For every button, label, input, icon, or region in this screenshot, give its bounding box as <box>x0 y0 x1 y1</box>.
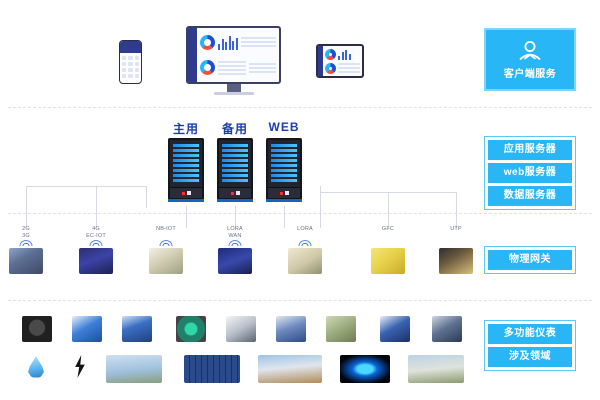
legend-client-label: 客户端服务 <box>504 65 557 80</box>
gateway-nb-iot[interactable]: NB-IOT <box>135 226 197 274</box>
domain-substation[interactable] <box>408 355 464 383</box>
legend-device-types[interactable]: 多功能仪表 涉及领域 <box>484 320 576 371</box>
gateway-4g-ec-iot[interactable]: 4G EC-IOT <box>65 226 127 274</box>
gas-flame-image <box>340 355 390 383</box>
domain-gas[interactable] <box>340 355 390 383</box>
server-rack-backup[interactable] <box>217 138 253 200</box>
domain-water[interactable] <box>28 356 44 378</box>
connector-left-branch-3 <box>146 186 147 208</box>
phone-status-bar <box>120 41 141 53</box>
gateway-lora-label: LORA <box>274 226 336 239</box>
dashboard-text-lines <box>241 37 277 47</box>
connector-rack-web-down <box>284 206 285 228</box>
meter-temperature-probe[interactable] <box>226 316 256 342</box>
gateway-4g-ec-iot-label: 4G EC-IOT <box>65 226 127 239</box>
gateway-nb-iot-label: NB-IOT <box>135 226 197 239</box>
tablet-content <box>323 46 362 76</box>
section-divider-client <box>8 107 592 108</box>
server-rack-primary[interactable] <box>168 138 204 200</box>
architecture-diagram: 客户端服务 主用 备用 WEB 应用服务器 web服务器 数据服务器 2G 3G <box>0 0 600 400</box>
gateway-utp[interactable]: UTP <box>425 226 487 274</box>
wifi-icon <box>160 240 173 247</box>
gateway-2g-3g-image <box>9 248 43 274</box>
monitor-screen <box>186 26 281 84</box>
tablet-donut-chart <box>325 49 336 60</box>
domain-oil-gas[interactable] <box>258 355 322 383</box>
gateway-lora-wan[interactable]: LORA WAN <box>204 226 266 274</box>
connector-right-branch-2 <box>388 192 389 228</box>
meter-gas-meter[interactable] <box>326 316 356 342</box>
gateway-lora-wan-label: LORA WAN <box>204 226 266 239</box>
solar-panel-image <box>184 355 240 383</box>
client-device-tablet[interactable] <box>316 44 364 78</box>
client-device-smartphone[interactable] <box>119 40 142 84</box>
gateway-lora[interactable]: LORA <box>274 226 336 274</box>
monitor-stand-base <box>214 92 254 95</box>
dashboard-content <box>197 28 279 82</box>
connector-left-branch-1 <box>26 186 27 228</box>
tablet-area-chart <box>338 49 351 60</box>
user-icon <box>517 40 543 62</box>
gateway-gfc[interactable]: GFC <box>357 226 419 274</box>
legend-server-types[interactable]: 应用服务器 web服务器 数据服务器 <box>484 136 576 210</box>
connector-bus-left <box>26 186 146 187</box>
oil-gas-tanks-image <box>258 355 322 383</box>
legend-client-service[interactable]: 客户端服务 <box>484 28 576 91</box>
gateway-gfc-label: GFC <box>357 226 419 239</box>
meter-smart-sensor-module[interactable] <box>176 316 206 342</box>
gateway-nb-iot-image <box>149 248 183 274</box>
client-device-desktop-monitor[interactable] <box>186 26 281 98</box>
substation-image <box>408 355 464 383</box>
connector-left-branch-2 <box>96 186 97 228</box>
domain-electricity[interactable] <box>72 355 88 378</box>
server-rack-web[interactable] <box>266 138 302 200</box>
gateway-utp-image <box>439 248 473 274</box>
dashboard-metrics <box>249 63 277 73</box>
rack-label-backup: 备用 <box>212 120 258 137</box>
wifi-icon <box>20 240 33 247</box>
meter-pressure-transmitter[interactable] <box>122 316 152 342</box>
domain-solar-power[interactable] <box>184 355 240 383</box>
gateway-utp-label: UTP <box>425 226 487 239</box>
rack-label-primary: 主用 <box>163 120 209 137</box>
gateway-4g-ec-iot-image <box>79 248 113 274</box>
legend-multifunction-meter: 多功能仪表 <box>488 324 572 344</box>
gateway-gfc-image <box>371 248 405 274</box>
connector-rack-backup-down <box>235 206 236 228</box>
legend-data-server: 数据服务器 <box>488 186 572 206</box>
dashboard-donut-chart-2 <box>200 60 215 75</box>
monitor-stand-neck <box>227 84 241 92</box>
gateway-2g-3g-label: 2G 3G <box>0 226 57 239</box>
gateway-lora-wan-image <box>218 248 252 274</box>
tablet-text-lines <box>338 63 360 73</box>
electricity-bolt-icon <box>72 355 88 378</box>
dashboard-bar-chart <box>218 35 238 50</box>
dashboard-donut-chart <box>200 35 215 50</box>
legend-application-domain: 涉及领域 <box>488 347 572 367</box>
wind-farm-image <box>106 355 162 383</box>
water-drop-icon <box>28 356 44 378</box>
domain-wind-power[interactable] <box>106 355 162 383</box>
legend-web-server: web服务器 <box>488 163 572 183</box>
connector-right-branch-1 <box>320 186 321 228</box>
meter-panel-meter[interactable] <box>432 316 462 342</box>
meter-lcd-meter[interactable] <box>22 316 52 342</box>
wifi-icon <box>90 240 103 247</box>
wifi-icon <box>229 240 242 247</box>
legend-gateway-label: 物理网关 <box>488 250 572 270</box>
rack-label-web: WEB <box>261 120 307 134</box>
phone-app-grid <box>120 53 141 81</box>
gateway-2g-3g[interactable]: 2G 3G <box>0 226 57 274</box>
wifi-icon <box>299 240 312 247</box>
tablet-donut-chart-2 <box>325 63 336 74</box>
meter-electromagnetic-flow-meter[interactable] <box>72 316 102 342</box>
gateway-lora-image <box>288 248 322 274</box>
legend-physical-gateway[interactable]: 物理网关 <box>484 246 576 274</box>
connector-right-branch-3 <box>456 192 457 228</box>
meter-gas-detector[interactable] <box>276 316 306 342</box>
meter-water-meter[interactable] <box>380 316 410 342</box>
legend-app-server: 应用服务器 <box>488 140 572 160</box>
dashboard-sidebar <box>188 28 197 82</box>
section-divider-gateway <box>8 300 592 301</box>
connector-rack-primary-down <box>186 206 187 228</box>
dashboard-table <box>218 61 246 75</box>
